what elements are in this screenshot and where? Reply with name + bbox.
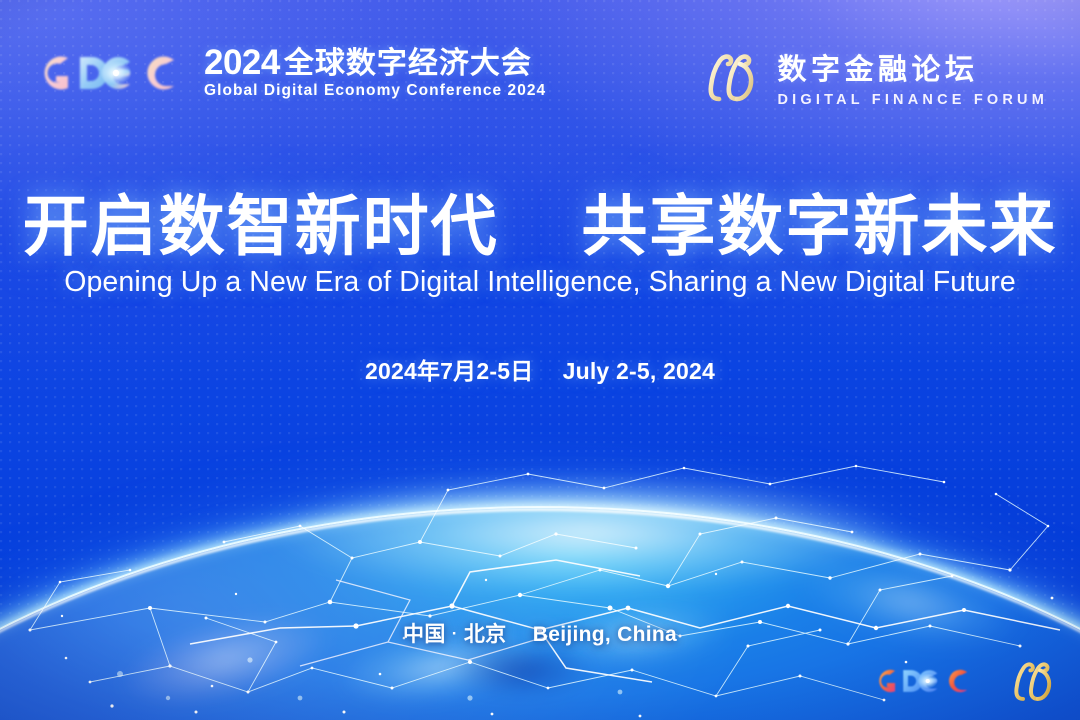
gdec-chinese-name: 全球数字经济大会: [284, 49, 532, 80]
dff-english-name: DIGITAL FINANCE FORUM: [777, 92, 1048, 108]
date-english: July 2-5, 2024: [563, 358, 715, 384]
dff-chinese-name: 数字金融论坛: [777, 46, 1048, 88]
main-slogan-chinese: 开启数智新时代 共享数字新未来: [0, 193, 1080, 259]
footer-gdec-logo-icon: [872, 661, 978, 706]
gdec-wordmark-icon: [34, 44, 190, 102]
digital-finance-forum-logo: 数字金融论坛 DIGITAL FINANCE FORUM: [699, 46, 1048, 108]
footer-ff-monogram-icon: [1006, 659, 1058, 708]
slogan-part-1: 开启数智新时代: [23, 189, 499, 263]
earth-horizon-hotspot-glow: [230, 440, 970, 590]
location-country-cn: 中国: [403, 623, 446, 646]
footer-gdec-logo-svg: [872, 661, 978, 701]
conference-location: 中国 · 北京 Beijing, China: [0, 618, 1080, 648]
gdec-year: 2024: [204, 46, 280, 79]
gdec-conference-logo: 2024 全球数字经济大会 Global Digital Economy Con…: [34, 44, 546, 102]
gdec-title-line: 2024 全球数字经济大会: [204, 46, 546, 79]
date-chinese: 2024年7月2-5日: [365, 358, 533, 384]
backdrop-header: 2024 全球数字经济大会 Global Digital Economy Con…: [0, 0, 1080, 140]
conference-backdrop-screen: 2024 全球数字经济大会 Global Digital Economy Con…: [0, 0, 1080, 720]
gdec-english-name: Global Digital Economy Conference 2024: [204, 82, 546, 100]
ff-monogram-icon: [699, 50, 761, 104]
dff-logo-text: 数字金融论坛 DIGITAL FINANCE FORUM: [777, 46, 1048, 108]
main-slogan-english: Opening Up a New Era of Digital Intellig…: [0, 266, 1080, 299]
location-city-cn: 北京: [464, 623, 507, 646]
conference-date: 2024年7月2-5日 July 2-5, 2024: [0, 352, 1080, 386]
location-english: Beijing, China: [533, 623, 677, 646]
gdec-logo-text: 2024 全球数字经济大会 Global Digital Economy Con…: [204, 46, 546, 100]
footer-logo-row: [872, 659, 1058, 708]
location-separator: ·: [452, 624, 458, 643]
slogan-part-2: 共享数字新未来: [581, 189, 1057, 263]
ff-monogram-svg: [699, 50, 761, 104]
footer-ff-monogram-svg: [1006, 659, 1058, 703]
gdec-logo-svg: [34, 44, 190, 102]
